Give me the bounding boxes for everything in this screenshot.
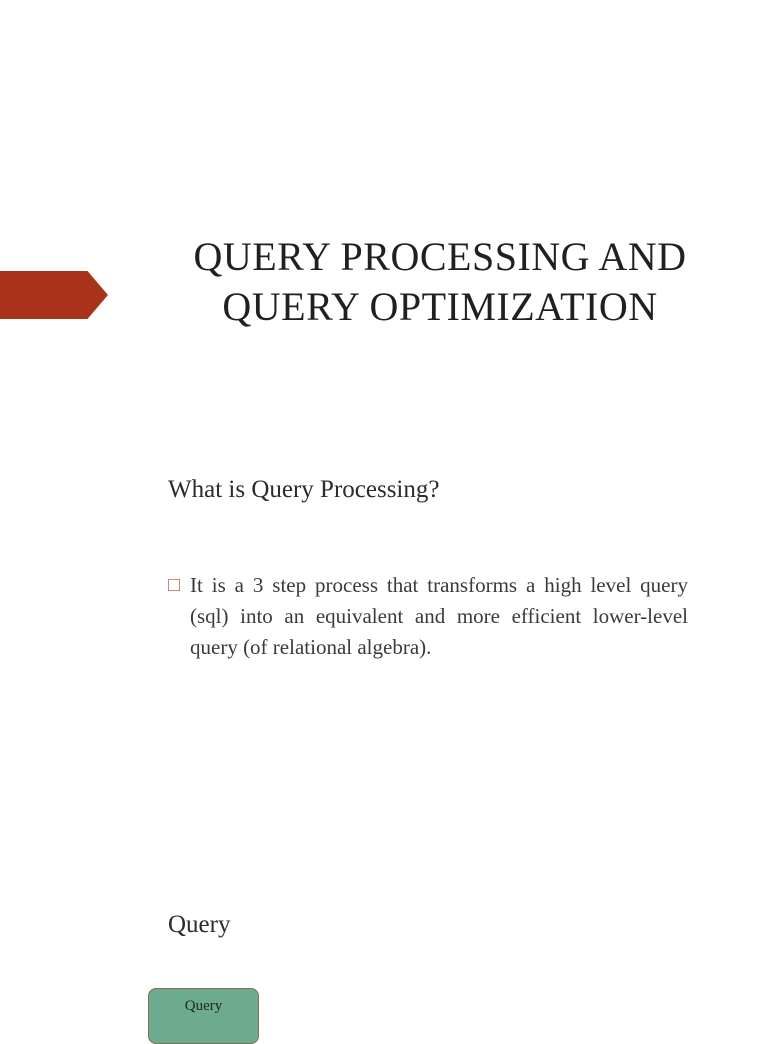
section-question-heading: What is Query Processing? [168, 474, 439, 506]
bullet-item-text: It is a 3 step process that transforms a… [190, 570, 688, 663]
page-title: QUERY PROCESSING AND QUERY OPTIMIZATION [150, 232, 730, 332]
slide-canvas: QUERY PROCESSING AND QUERY OPTIMIZATION … [0, 0, 768, 1024]
flow-diagram-node-query: Query [148, 988, 259, 1044]
flow-node-label: Query [185, 997, 223, 1016]
square-bullet-icon: □ [168, 570, 190, 601]
bullet-list-item: □ It is a 3 step process that transforms… [168, 570, 688, 663]
flow-section-label: Query [168, 909, 230, 941]
right-chevron-arrow-icon [0, 271, 108, 319]
